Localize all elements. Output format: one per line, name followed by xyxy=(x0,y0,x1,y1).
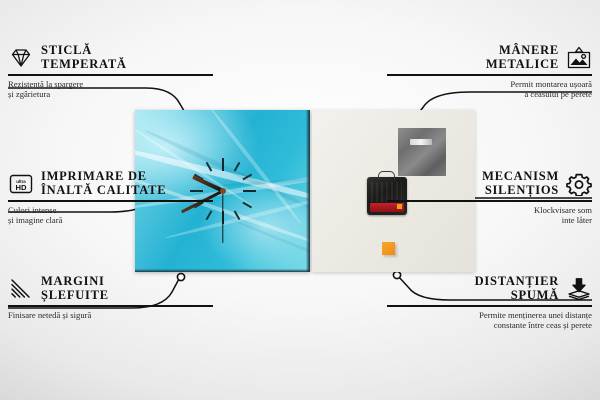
feature-header: ultra HD IMPRIMARE DEÎNALTĂ CALITATE xyxy=(8,170,213,197)
infographic-canvas: STICLĂTEMPERATĂ Rezistență la spargereși… xyxy=(0,0,600,400)
ultra-hd-icon: ultra HD xyxy=(8,172,34,196)
metal-hanger xyxy=(398,128,446,176)
feature-rule xyxy=(387,200,592,202)
feature-header: DISTANȚIERSPUMĂ xyxy=(387,275,592,302)
feature-desc: Permite menținerea unei distanțeconstant… xyxy=(387,310,592,330)
clock-second-hand xyxy=(222,191,223,243)
feature-desc: Culori intenseși imagine clară xyxy=(8,205,213,225)
orange-foam-spacer xyxy=(382,242,395,255)
feature-manere-metalice: MÂNEREMETALICE Permit montarea ușoarăa c… xyxy=(387,44,592,99)
clock-center-cap xyxy=(220,188,226,194)
feature-header: MARGINIȘLEFUITE xyxy=(8,275,213,302)
feature-title: MARGINIȘLEFUITE xyxy=(41,275,109,302)
foam-spacer-icon xyxy=(566,277,592,301)
diamond-icon xyxy=(8,46,34,70)
feature-sticla-temperata: STICLĂTEMPERATĂ Rezistență la spargereși… xyxy=(8,44,213,99)
gear-icon xyxy=(566,172,592,196)
beveled-edge-icon xyxy=(8,277,34,301)
svg-text:HD: HD xyxy=(16,183,27,192)
feature-desc: Rezistență la spargereși zgârietura xyxy=(8,79,213,99)
picture-hanger-icon xyxy=(566,46,592,70)
feature-rule xyxy=(8,200,213,202)
feature-title: DISTANȚIERSPUMĂ xyxy=(475,275,559,302)
feature-title: MÂNEREMETALICE xyxy=(486,44,559,71)
feature-rule xyxy=(387,305,592,307)
feature-header: STICLĂTEMPERATĂ xyxy=(8,44,213,71)
feature-desc: Finisare netedă și sigură xyxy=(8,310,213,320)
feature-rule xyxy=(8,74,213,76)
feature-rule xyxy=(387,74,592,76)
feature-distantier-spuma: DISTANȚIERSPUMĂ Permite menținerea unei … xyxy=(387,275,592,330)
feature-desc: Permit montarea ușoarăa ceasului pe pere… xyxy=(387,79,592,99)
feature-mecanism-silentios: MECANISMSILENȚIOS Klockvisare sominte lå… xyxy=(387,170,592,225)
feature-header: MÂNEREMETALICE xyxy=(387,44,592,71)
glass-edge-bottom xyxy=(135,269,310,272)
feature-margini-slefuite: MARGINIȘLEFUITE Finisare netedă și sigur… xyxy=(8,275,213,320)
feature-imprimare-hd: ultra HD IMPRIMARE DEÎNALTĂ CALITATE Cul… xyxy=(8,170,213,225)
feature-title: STICLĂTEMPERATĂ xyxy=(41,44,127,71)
feature-header: MECANISMSILENȚIOS xyxy=(387,170,592,197)
feature-title: MECANISMSILENȚIOS xyxy=(482,170,559,197)
feature-title: IMPRIMARE DEÎNALTĂ CALITATE xyxy=(41,170,166,197)
feature-rule xyxy=(8,305,213,307)
hanger-slot xyxy=(410,139,432,145)
feature-desc: Klockvisare sominte låter xyxy=(387,205,592,225)
glass-edge-right xyxy=(306,110,310,272)
